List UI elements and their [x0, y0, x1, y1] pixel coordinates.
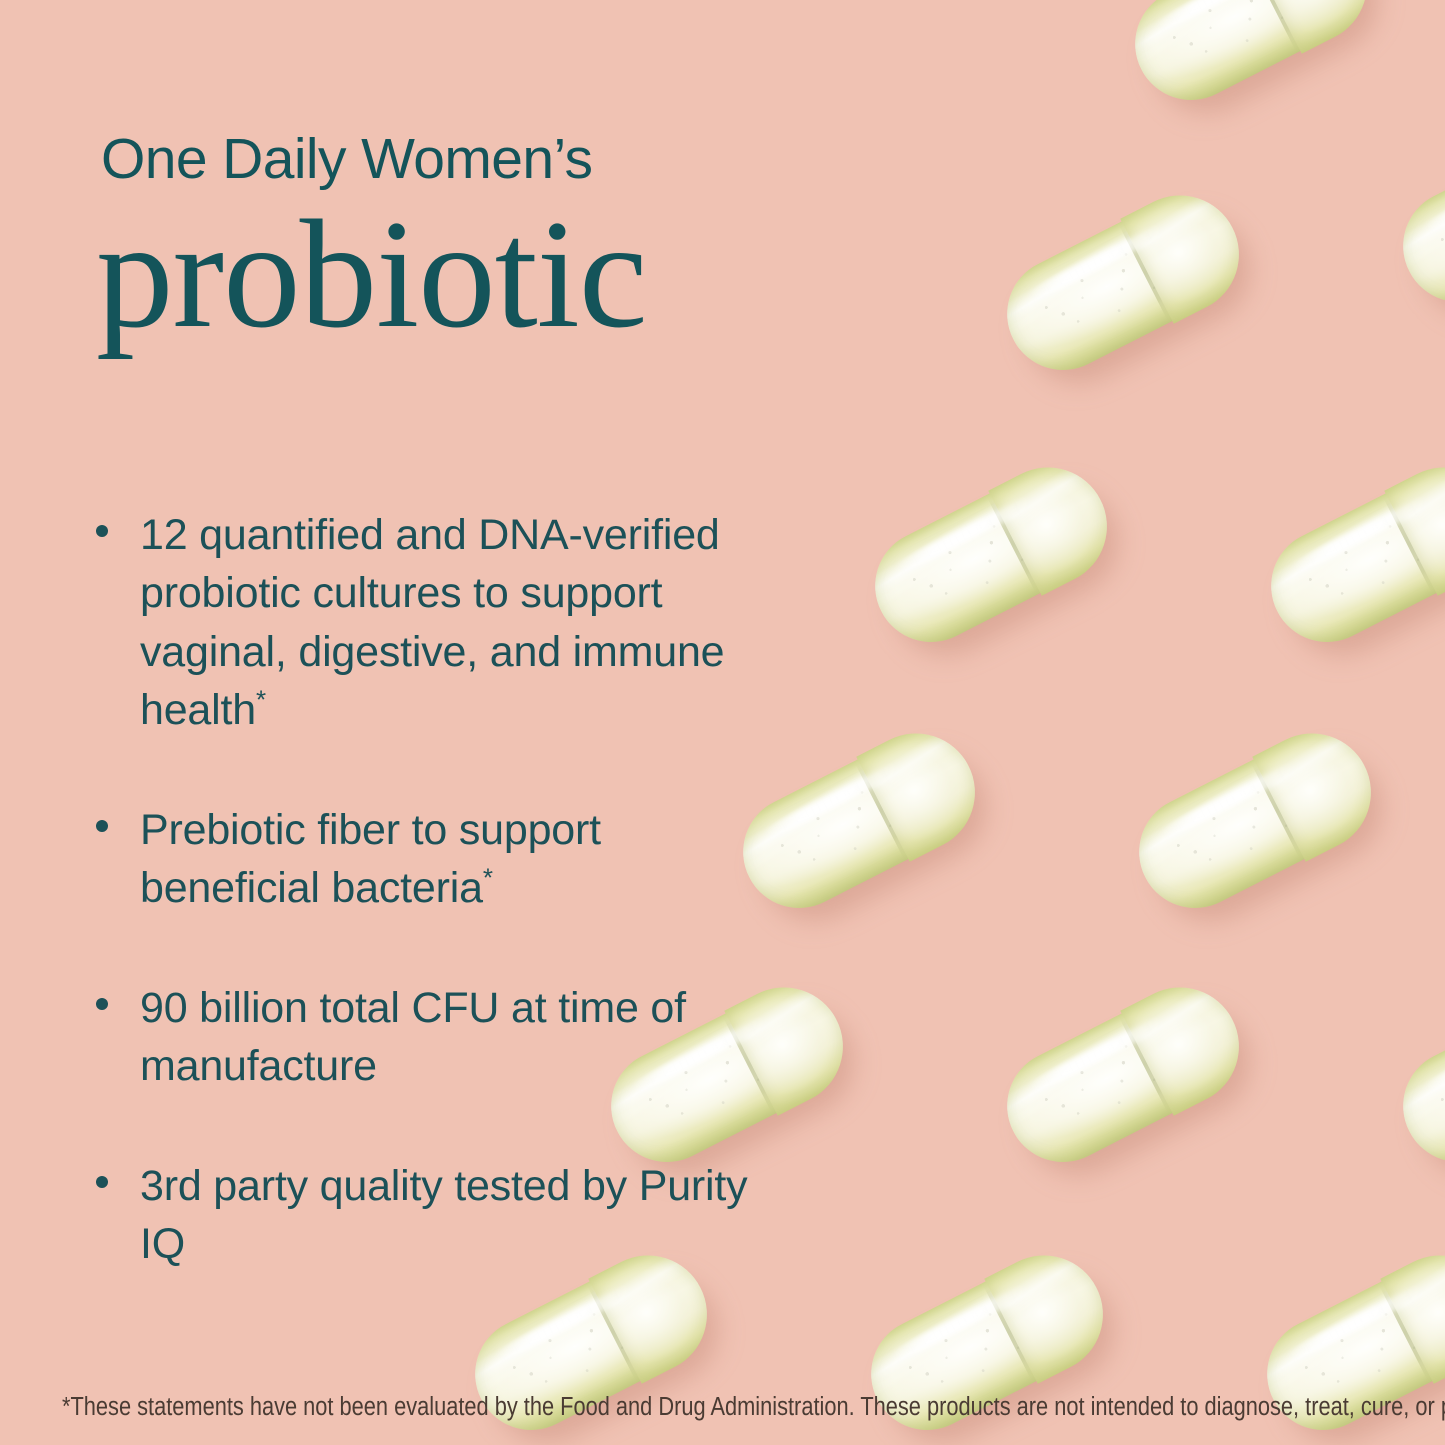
content-layer: One Daily Women’s probiotic 12 quantifie… — [0, 0, 1445, 1445]
benefit-list-item: Prebiotic fiber to support beneficial ba… — [88, 801, 788, 918]
bullet-dot-icon — [96, 1176, 108, 1188]
footnote-asterisk: * — [483, 863, 493, 893]
product-eyebrow-title: One Daily Women’s — [101, 129, 592, 189]
benefit-list-item: 90 billion total CFU at time of manufact… — [88, 979, 788, 1096]
benefit-list-item: 3rd party quality tested by Purity IQ — [88, 1157, 788, 1274]
benefit-text: 12 quantified and DNA-verified probiotic… — [140, 511, 724, 734]
bullet-dot-icon — [96, 820, 108, 832]
bullet-dot-icon — [96, 525, 108, 537]
benefit-list-item: 12 quantified and DNA-verified probiotic… — [88, 506, 788, 740]
benefits-list: 12 quantified and DNA-verified probiotic… — [88, 506, 788, 1274]
footnote-asterisk: * — [256, 685, 266, 715]
benefit-text: 3rd party quality tested by Purity IQ — [140, 1162, 747, 1268]
benefit-text: Prebiotic fiber to support beneficial ba… — [140, 806, 601, 912]
benefit-text: 90 billion total CFU at time of manufact… — [140, 984, 686, 1090]
bullet-dot-icon — [96, 998, 108, 1010]
fda-disclaimer: *These statements have not been evaluate… — [62, 1392, 1199, 1423]
product-wordmark: probiotic — [96, 197, 647, 352]
product-marketing-panel: One Daily Women’s probiotic 12 quantifie… — [0, 0, 1445, 1445]
